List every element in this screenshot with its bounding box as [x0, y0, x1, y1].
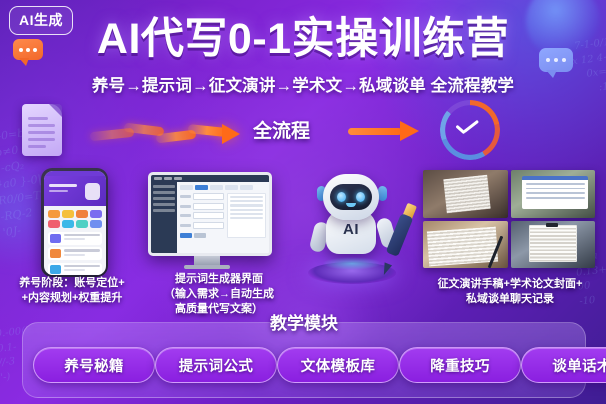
photo-manuscript — [423, 170, 508, 218]
module-pill-4[interactable]: 降重技巧 — [399, 347, 521, 383]
module-pill-3[interactable]: 文体模板库 — [277, 347, 399, 383]
arrow-right-icon — [348, 125, 420, 137]
teaching-modules-title: 教学模块 — [23, 309, 585, 334]
robot-head — [323, 174, 379, 220]
document-icon — [22, 104, 62, 156]
caption-collage-line1: 征文演讲手稿+学术论文封面+ — [420, 277, 600, 292]
phone-mockup — [41, 168, 108, 277]
photo-clipboard-laptop — [511, 221, 596, 269]
robot-mascot: AI — [300, 166, 404, 284]
caption-collage-line2: 私域谈单聊天记录 — [420, 292, 600, 307]
checkmark-icon — [455, 122, 481, 136]
caption-monitor-line1: 提示词生成器界面 — [145, 272, 293, 287]
module-pill-5[interactable]: 谈单话术 — [521, 347, 606, 383]
monitor-mockup — [148, 172, 266, 269]
flow-band: 全流程 — [0, 100, 606, 162]
page-title: AI代写0-1实操训练营 — [0, 18, 606, 61]
caption-phone-line2: +内容规划+权重提升 — [6, 291, 138, 306]
photo-papers-pen — [423, 221, 508, 269]
teaching-modules-panel: 教学模块 养号秘籍 提示词公式 文体模板库 降重技巧 谈单话术 — [22, 322, 586, 398]
photo-collage — [423, 170, 595, 268]
robot-chest-label: AI — [326, 221, 376, 238]
module-pill-1[interactable]: 养号秘籍 — [33, 347, 155, 383]
caption-phone: 养号阶段：账号定位+ +内容规划+权重提升 — [6, 276, 138, 306]
caption-monitor-line2: （输入需求→自动生成 — [145, 287, 293, 302]
ribbon-arrow-icon — [90, 120, 240, 144]
caption-collage: 征文演讲手稿+学术论文封面+ 私域谈单聊天记录 — [420, 277, 600, 307]
page-subtitle: 养号→提示词→征文演讲→学术文→私域谈单 全流程教学 — [0, 72, 606, 96]
module-pill-2[interactable]: 提示词公式 — [155, 347, 277, 383]
poster-banner: A-0=b b≠0 {-cQ₂ }a0 }-0| R0/0=T L -RQ-2 … — [0, 0, 606, 404]
teaching-modules-list: 养号秘籍 提示词公式 文体模板库 降重技巧 谈单话术 — [23, 347, 585, 383]
photo-screen-window — [511, 170, 596, 218]
phone-list — [44, 230, 106, 275]
flow-label: 全流程 — [253, 116, 310, 143]
caption-phone-line1: 养号阶段：账号定位+ — [6, 276, 138, 291]
phone-icon-grid — [44, 206, 106, 230]
